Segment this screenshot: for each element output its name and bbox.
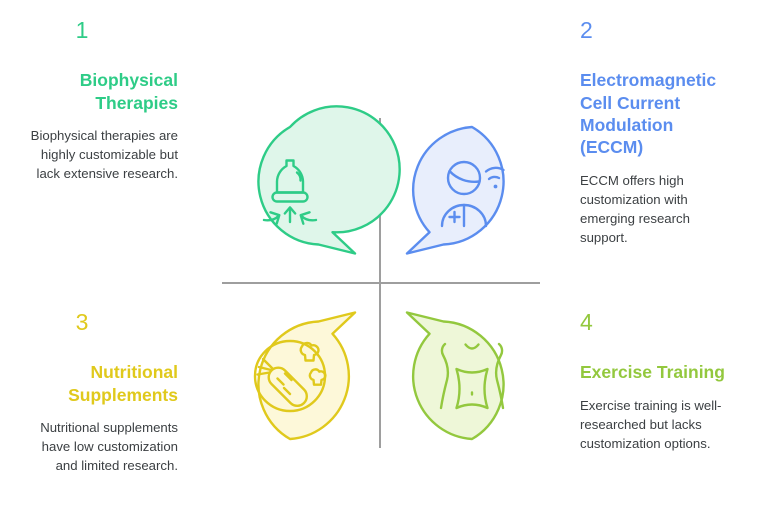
quadrant-2-title: Electromagnetic Cell Current Modulation …	[580, 69, 740, 159]
quadrant-1-title: Biophysical Therapies	[18, 69, 178, 114]
infographic-canvas: 1 Biophysical Therapies Biophysical ther…	[0, 0, 758, 523]
quadrant-2-bubble	[404, 122, 540, 258]
quadrant-2-description: ECCM offers high customization with emer…	[580, 171, 740, 247]
quadrant-2-number: 2	[580, 18, 740, 43]
quadrant-4-bubble	[404, 308, 540, 444]
quadrant-2-text-block: 2 Electromagnetic Cell Current Modulatio…	[580, 18, 740, 247]
quadrant-3-title: Nutritional Supplements	[18, 361, 178, 406]
bubble-outline	[407, 313, 504, 440]
quadrant-4-text-block: 4 Exercise Training Exercise training is…	[580, 310, 740, 453]
quadrant-4-number: 4	[580, 310, 740, 335]
quadrant-3-text-block: 3 Nutritional Supplements Nutritional su…	[18, 310, 178, 475]
divider-horizontal	[222, 282, 540, 284]
quadrant-1-description: Biophysical therapies are highly customi…	[18, 126, 178, 183]
quadrant-4-description: Exercise training is well-researched but…	[580, 396, 740, 453]
quadrant-3-number: 3	[18, 310, 178, 335]
bubble-outline	[258, 313, 355, 440]
quadrant-1-number: 1	[18, 18, 178, 43]
quadrant-3-bubble	[222, 308, 358, 444]
quadrant-3-description: Nutritional supplements have low customi…	[18, 418, 178, 475]
quadrant-1-bubble	[222, 122, 358, 258]
quadrant-4-title: Exercise Training	[580, 361, 740, 383]
quadrant-1-text-block: 1 Biophysical Therapies Biophysical ther…	[18, 18, 178, 183]
